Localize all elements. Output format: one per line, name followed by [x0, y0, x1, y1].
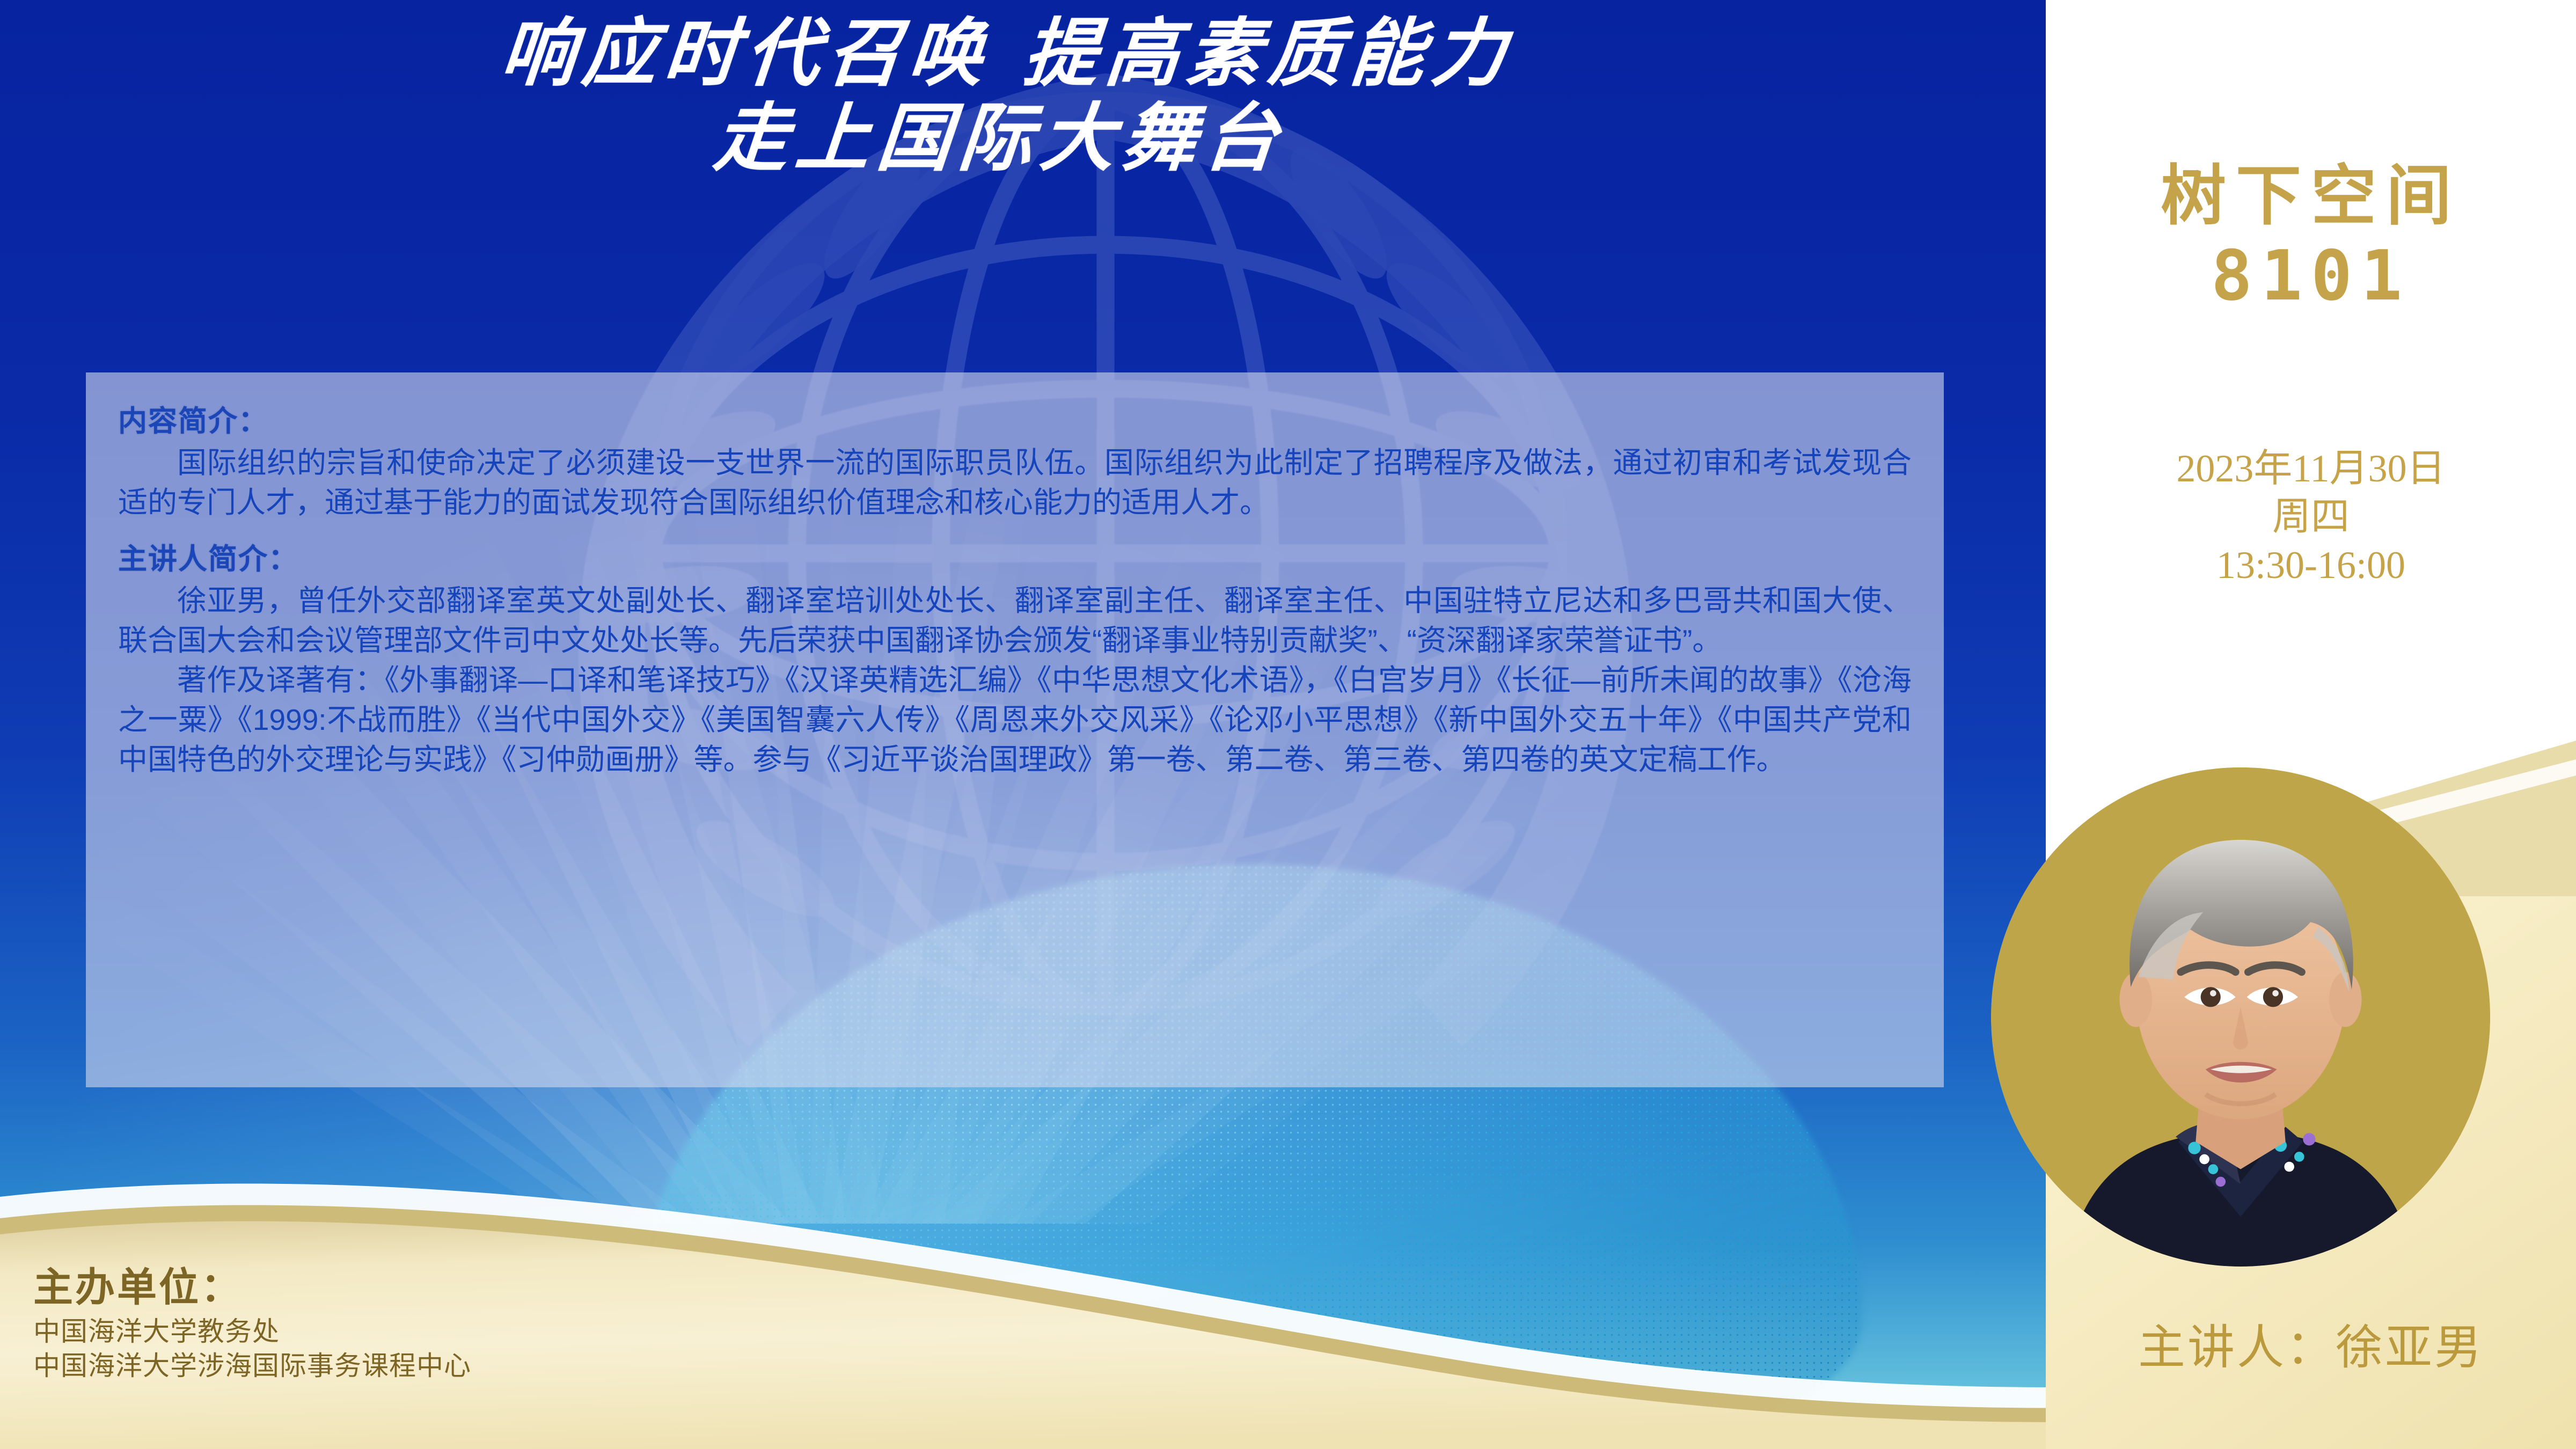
- title-line-1: 响应时代召唤 提高素质能力: [225, 11, 1789, 96]
- speaker-name-label: 主讲人：徐亚男: [2046, 1309, 2576, 1378]
- speaker-bio-paragraph-1: 徐亚男，曾任外交部翻译室英文处副处长、翻译室培训处处长、翻译室副主任、翻译室主任…: [118, 581, 1912, 660]
- venue-room-number: 8101: [2046, 236, 2576, 316]
- event-time: 13:30-16:00: [2046, 541, 2576, 589]
- organizer-block: 主办单位： 中国海洋大学教务处 中国海洋大学涉海国际事务课程中心: [33, 1264, 946, 1383]
- event-date: 2023年11月30日: [2046, 444, 2576, 493]
- speaker-portrait: [1991, 767, 2490, 1267]
- organizer-line-1: 中国海洋大学教务处: [33, 1314, 946, 1349]
- content-panel: 内容简介： 国际组织的宗旨和使命决定了必须建设一支世界一流的国际职员队伍。国际组…: [86, 372, 1944, 1087]
- intro-heading: 内容简介：: [118, 397, 1912, 440]
- organizer-label: 主办单位：: [33, 1264, 946, 1311]
- event-weekday: 周四: [2046, 493, 2576, 541]
- title-line-2: 走上国际大舞台: [218, 96, 1782, 180]
- event-datetime: 2023年11月30日 周四 13:30-16:00: [2046, 444, 2576, 589]
- page-title: 响应时代召唤 提高素质能力 走上国际大舞台: [218, 11, 1789, 180]
- organizer-line-2: 中国海洋大学涉海国际事务课程中心: [33, 1349, 946, 1383]
- speaker-bio-paragraph-2: 著作及译著有：《外事翻译—口译和笔译技巧》《汉译英精选汇编》《中华思想文化术语》…: [118, 660, 1912, 779]
- intro-body: 国际组织的宗旨和使命决定了必须建设一支世界一流的国际职员队伍。国际组织为此制定了…: [118, 443, 1912, 522]
- event-poster: 响应时代召唤 提高素质能力 走上国际大舞台 内容简介： 国际组织的宗旨和使命决定…: [0, 0, 2576, 1449]
- speaker-heading: 主讲人简介：: [118, 535, 1912, 577]
- venue-place: 树下空间: [2046, 156, 2576, 236]
